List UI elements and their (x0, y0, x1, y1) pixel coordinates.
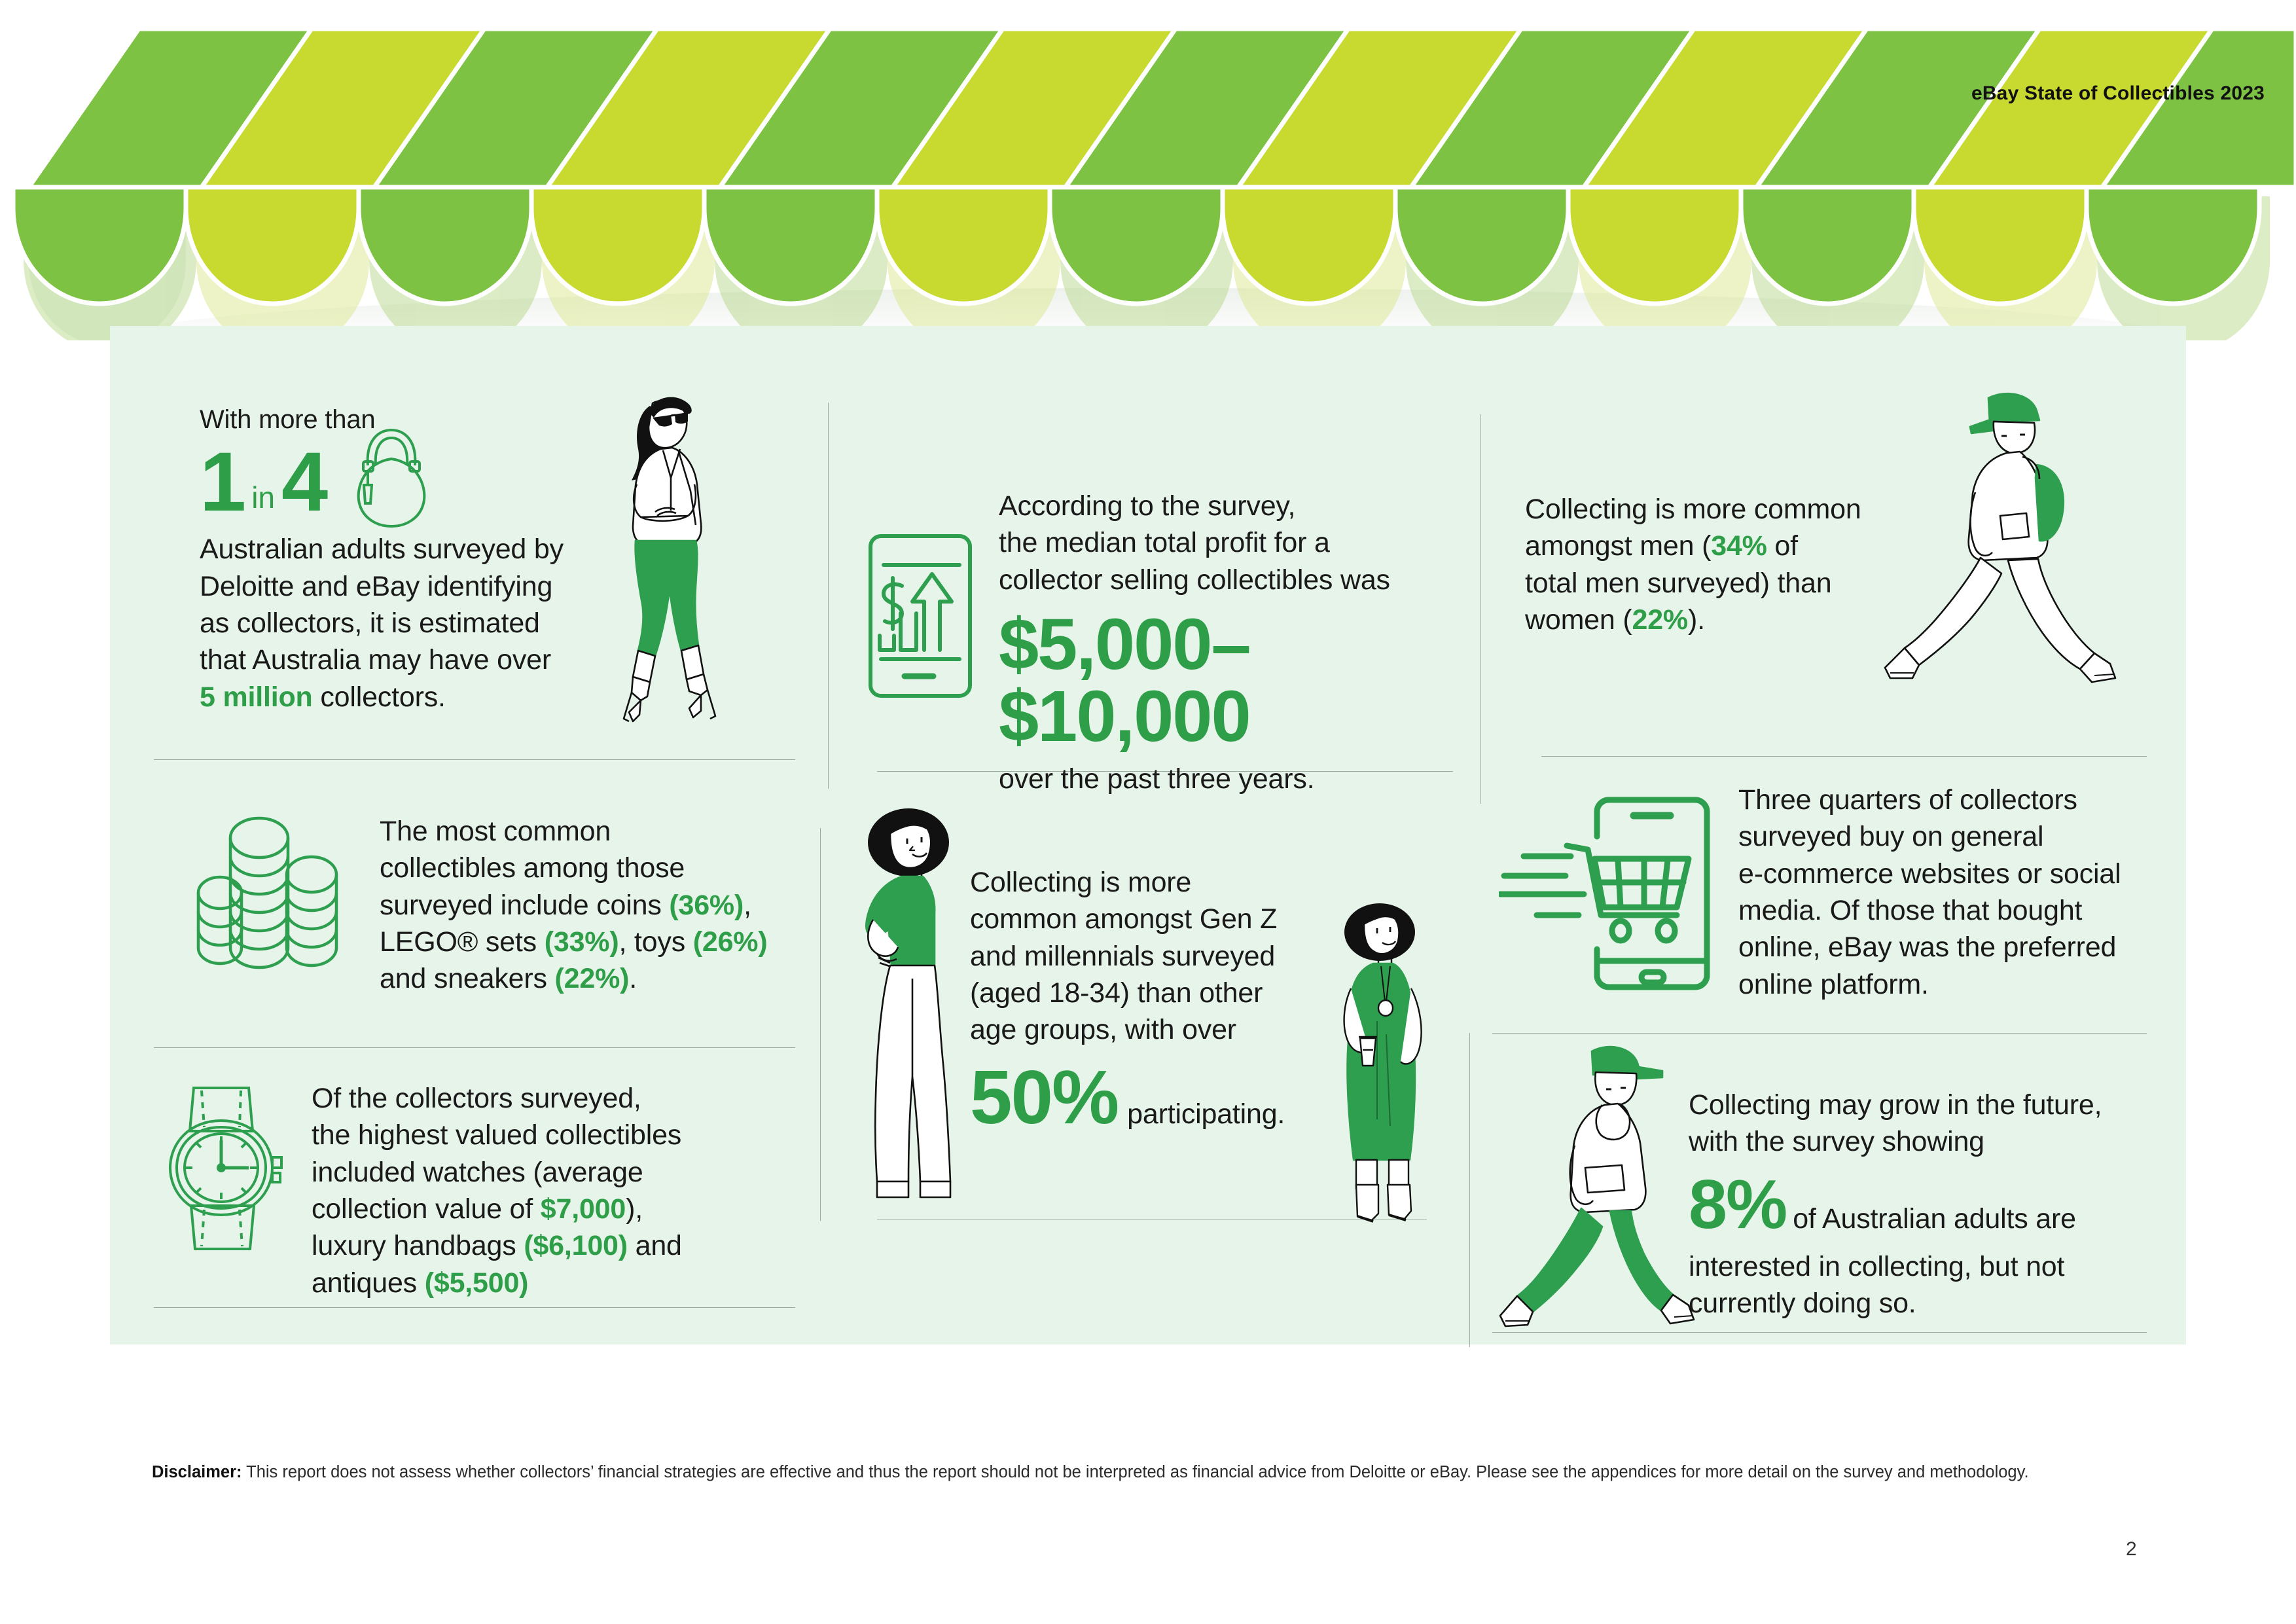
stat-women-percent: 22% (1632, 604, 1687, 636)
genz-line-2: common amongst Gen Z (970, 903, 1277, 935)
future-line-3: interested in collecting, but not (1689, 1251, 2064, 1282)
stat-watch-value: $7,000 (541, 1193, 626, 1225)
block-coins: The most common collectibles among those… (196, 805, 798, 998)
watches-line-4-pre: collection value of (312, 1193, 541, 1225)
future-line-1: Collecting may grow in the future, (1689, 1089, 2102, 1121)
divider-left-2 (154, 1047, 795, 1048)
disclaimer-label: Disclaimer: (152, 1463, 242, 1481)
awning-graphic (0, 0, 2296, 327)
five-million-highlight: 5 million (200, 681, 313, 713)
gender-line-2-post: of (1767, 530, 1798, 562)
ecommerce-line-1: Three quarters of collectors (1738, 784, 2077, 816)
gender-line-2-pre: amongst men ( (1525, 530, 1711, 562)
future-line-2: with the survey showing (1689, 1126, 1984, 1157)
ecommerce-line-6: online platform. (1738, 969, 1929, 1000)
divider-mid-bottom (820, 828, 821, 1221)
stat-antiques-value: ($5,500) (425, 1267, 529, 1299)
coins-line-3-pre: surveyed include coins (380, 890, 669, 921)
phone-chart-icon (864, 531, 975, 701)
block-watches: Of the collectors surveyed, the highest … (143, 1074, 804, 1301)
block-ecommerce: Three quarters of collectors surveyed bu… (1499, 779, 2166, 1003)
watches-line-1: Of the collectors surveyed, (312, 1083, 641, 1114)
coins-line-4-pre: LEGO® sets (380, 926, 545, 958)
divider-right-1 (1541, 756, 2147, 757)
profit-line-3: collector selling collectibles was (999, 564, 1390, 596)
genz-line-5: age groups, with over (970, 1014, 1236, 1045)
profit-text: According to the survey, the median tota… (999, 488, 1453, 797)
coin-stacks-icon (196, 814, 353, 978)
coins-text: The most common collectibles among those… (380, 805, 767, 998)
profit-line-2: the median total profit for a (999, 527, 1330, 558)
gender-line-3: total men surveyed) than (1525, 568, 1831, 599)
coins-line-3-post: , (744, 890, 751, 921)
stat-profit-range: $5,000–$10,000 (999, 609, 1453, 753)
body-line-1: Australian adults surveyed by (200, 533, 564, 565)
block-profit: According to the survey, the median tota… (864, 488, 1453, 797)
illustration-man-tracksuit (1499, 1034, 1708, 1342)
body-line-3: as collectors, it is estimated (200, 607, 540, 639)
genz-line-3: and millennials surveyed (970, 941, 1275, 972)
divider-left-1 (154, 759, 795, 760)
ecommerce-line-3: e-commerce websites or social (1738, 858, 2121, 890)
genz-line-1: Collecting is more (970, 867, 1191, 898)
coins-line-1: The most common (380, 816, 611, 847)
watches-line-2: the highest valued collectibles (312, 1119, 681, 1151)
disclaimer: Disclaimer: This report does not assess … (152, 1461, 2161, 1484)
watches-line-5-post: and (628, 1230, 682, 1261)
stat-coins: (36%) (669, 890, 744, 921)
ecommerce-line-2: surveyed buy on general (1738, 821, 2043, 852)
profit-line-1: According to the survey, (999, 490, 1295, 522)
gender-line-4-post: ). (1688, 604, 1705, 636)
coins-line-5-pre: and sneakers (380, 963, 555, 994)
divider-mid-top (828, 403, 829, 789)
ecommerce-text: Three quarters of collectors surveyed bu… (1738, 779, 2121, 1003)
stat-lego: (33%) (545, 926, 619, 958)
gender-line-1: Collecting is more common (1525, 494, 1861, 525)
divider-right-top (1480, 414, 1481, 804)
coins-line-2: collectibles among those (380, 852, 685, 884)
ecommerce-line-5: online, eBay was the preferred (1738, 931, 2116, 963)
handbag-icon (349, 425, 434, 530)
divider-right-2 (1492, 1033, 2147, 1034)
wristwatch-icon (157, 1080, 288, 1257)
profit-line-4: over the past three years. (999, 761, 1453, 797)
ecommerce-line-4: media. Of those that bought (1738, 895, 2082, 926)
coins-line-5-post: . (629, 963, 637, 994)
watches-line-5-pre: luxury handbags (312, 1230, 524, 1261)
body-line-4: that Australia may have over (200, 644, 551, 676)
genz-stat-tail: participating. (1127, 1096, 1285, 1132)
watches-text: Of the collectors surveyed, the highest … (312, 1074, 682, 1301)
future-stat-tail: of Australian adults are (1793, 1200, 2076, 1237)
report-title: eBay State of Collectibles 2023 (1971, 82, 2265, 105)
coins-line-4-mid: , toys (619, 926, 692, 958)
future-text-bottom: interested in collecting, but not curren… (1689, 1248, 2186, 1322)
illustration-woman-green-top (839, 808, 990, 1208)
stat-sneakers: (22%) (555, 963, 630, 994)
one-in-four-body: Australian adults surveyed by Deloitte a… (200, 531, 592, 715)
genz-line-4: (aged 18-34) than other (970, 977, 1263, 1009)
stat-genz-percent: 50% (970, 1059, 1118, 1135)
watches-line-4-post: ), (626, 1193, 643, 1225)
block-one-in-four: With more than 1 in 4 (200, 403, 619, 715)
future-text-top: Collecting may grow in the future, with … (1689, 1087, 2186, 1161)
stat-men-percent: 34% (1711, 530, 1767, 562)
watches-line-3: included watches (average (312, 1157, 643, 1188)
stat-handbag-value: ($6,100) (524, 1230, 628, 1261)
gender-line-4-pre: women ( (1525, 604, 1632, 636)
stat-numerator: 1 (200, 441, 245, 524)
divider-right-bottom (1469, 1033, 1470, 1347)
body-line-2: Deloitte and eBay identifying (200, 571, 552, 602)
stat-toys: (26%) (693, 926, 768, 958)
stat-denominator: 4 (281, 441, 327, 524)
profit-lines: According to the survey, the median tota… (999, 488, 1453, 598)
illustration-man-backpack (1872, 380, 2147, 720)
one-in-four-stat: 1 in 4 (200, 441, 619, 524)
future-line-4: currently doing so. (1689, 1288, 1916, 1319)
infographic-page: eBay State of Collectibles 2023 With mor… (0, 0, 2296, 1624)
divider-left-3 (154, 1307, 795, 1308)
illustration-woman-sunglasses (592, 386, 776, 753)
page-number: 2 (2126, 1538, 2137, 1561)
stat-in-word: in (245, 480, 281, 524)
disclaimer-text: This report does not assess whether coll… (242, 1463, 2029, 1481)
watches-line-6-pre: antiques (312, 1267, 425, 1299)
body-tail: collectors. (313, 681, 446, 713)
phone-cart-icon (1499, 785, 1721, 1001)
illustration-woman-green-dress (1317, 903, 1448, 1231)
block-future: Collecting may grow in the future, with … (1689, 1087, 2186, 1322)
